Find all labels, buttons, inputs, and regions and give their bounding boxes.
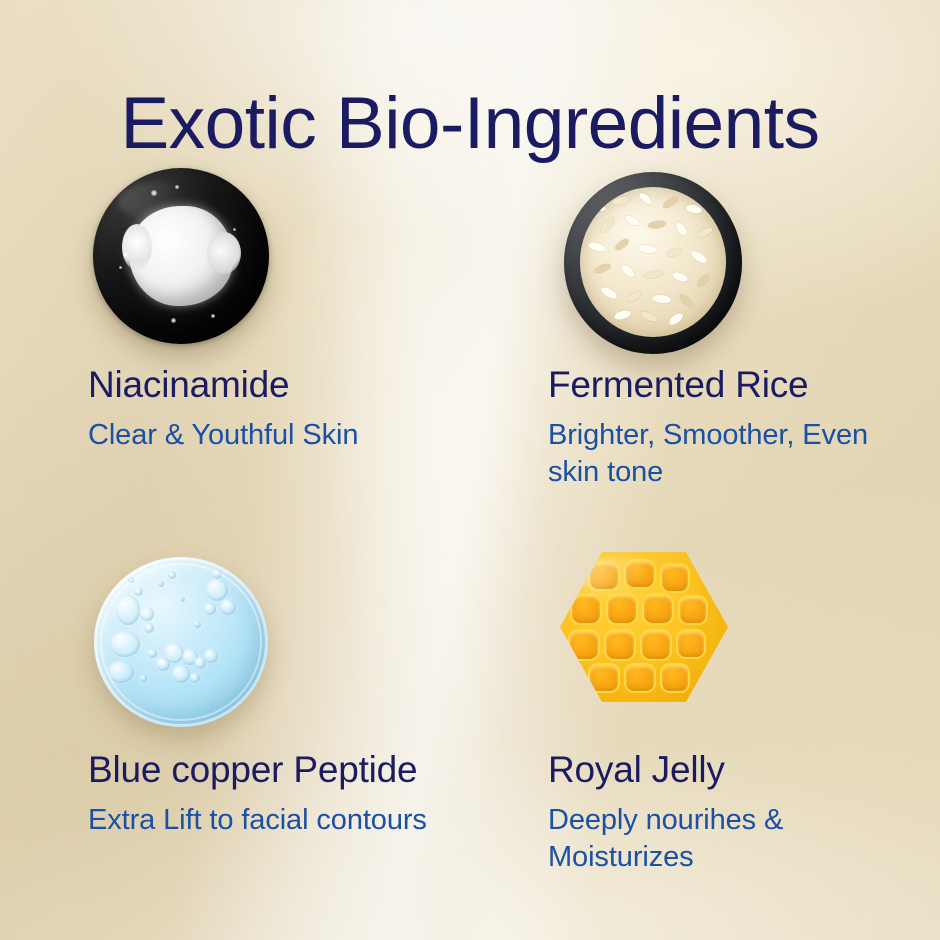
ingredient-card-niacinamide[interactable]: Niacinamide Clear & Youthful Skin [88, 150, 528, 454]
black-dish-powder-icon [93, 168, 269, 344]
page-title: Exotic Bio-Ingredients [0, 87, 940, 160]
ingredient-name: Fermented Rice [548, 366, 940, 405]
rice-grains [580, 187, 726, 337]
honeycomb-gloss [573, 555, 670, 596]
ingredients-poster: Exotic Bio-Ingredients Niacinamide Clear… [0, 0, 940, 940]
ingredient-benefit: Deeply nourihes & Moisturizes [548, 802, 918, 876]
ingredient-image-niacinamide [88, 150, 288, 350]
ingredient-image-fermented-rice [554, 150, 754, 350]
honeycomb-icon [560, 549, 728, 705]
ingredient-benefit: Clear & Youthful Skin [88, 417, 458, 454]
ingredient-benefit: Brighter, Smoother, Even skin tone [548, 417, 918, 491]
petri-dish-gel-icon [94, 557, 268, 727]
ingredient-name: Niacinamide [88, 366, 528, 405]
ingredient-card-fermented-rice[interactable]: Fermented Rice Brighter, Smoother, Even … [548, 150, 940, 491]
ingredient-image-blue-copper-peptide [90, 535, 290, 735]
ingredient-name: Royal Jelly [548, 751, 940, 790]
rice-bowl-icon [564, 172, 742, 354]
powder-mound [129, 206, 233, 306]
ingredient-name: Blue copper Peptide [88, 751, 528, 790]
ingredient-image-royal-jelly [552, 535, 752, 735]
ingredient-benefit: Extra Lift to facial contours [88, 802, 458, 839]
ingredient-card-royal-jelly[interactable]: Royal Jelly Deeply nourihes & Moisturize… [548, 535, 940, 876]
ingredient-card-blue-copper-peptide[interactable]: Blue copper Peptide Extra Lift to facial… [88, 535, 528, 839]
